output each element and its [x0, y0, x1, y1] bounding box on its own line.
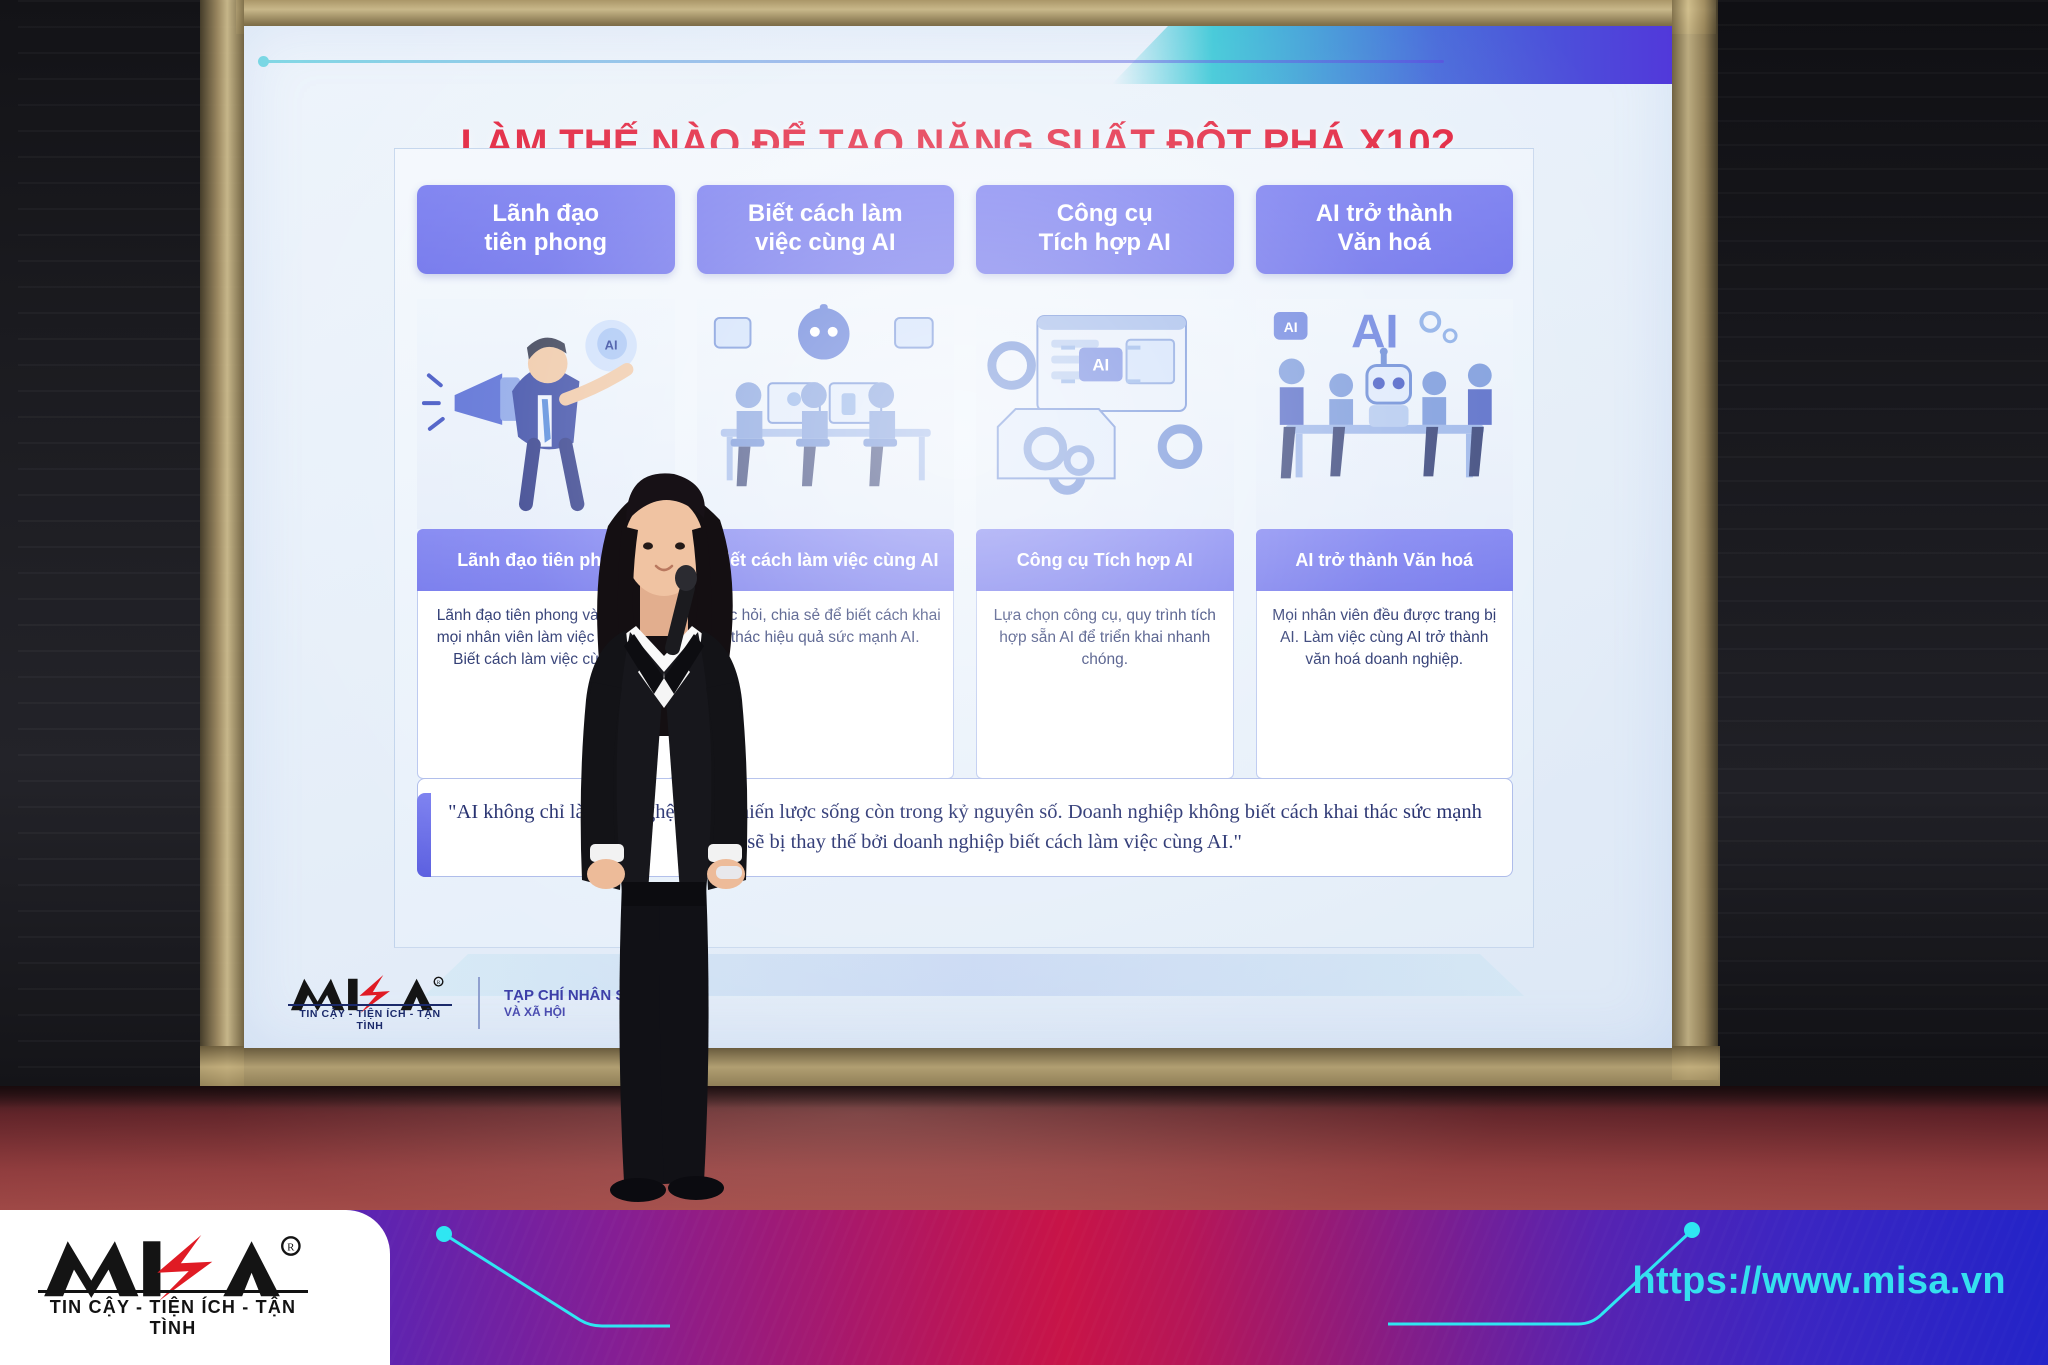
svg-text:AI: AI	[605, 338, 618, 353]
stage-trim-right	[1672, 0, 1718, 1080]
wall-panel-right	[1700, 0, 2048, 1060]
neon-accent-left	[430, 1224, 670, 1344]
column-4-body: Mọi nhân viên đều được trang bị AI. Làm …	[1256, 591, 1514, 779]
projected-slide: LÀM THẾ NÀO ĐỂ TẠO NĂNG SUẤT ĐỘT PHÁ X10…	[244, 26, 1672, 1048]
svg-text:R: R	[437, 980, 441, 986]
column-3: AI	[976, 299, 1234, 779]
brand-misa-logo: R TIN CẬY - TIỆN ÍCH - TẬN TÌNH	[38, 1235, 308, 1339]
brand-misa-tagline: TIN CẬY - TIỆN ÍCH - TẬN TÌNH	[38, 1290, 308, 1339]
gears-chip-toolbox-icon: AI	[976, 299, 1234, 529]
office-culture-robot-icon: AI AI	[1256, 299, 1514, 529]
slide-decor-line	[264, 60, 1444, 63]
svg-text:AI: AI	[1092, 355, 1109, 374]
header-card-2: Biết cách làmviệc cùng AI	[697, 185, 955, 274]
quote-accent-bar	[417, 793, 431, 877]
slide-misa-logo: R TIN CẬY - TIỆN ÍCH - TẬN TÌNH	[284, 974, 454, 1032]
brand-website-url[interactable]: https://www.misa.vn	[1632, 1260, 2006, 1303]
svg-text:AI: AI	[1283, 319, 1297, 335]
slide-decor-corner	[1112, 26, 1672, 84]
column-4: AI AI	[1256, 299, 1514, 779]
header-card-3: Công cụTích hợp AI	[976, 185, 1234, 274]
stage-trim-left	[200, 0, 244, 1100]
header-card-4: AI trở thànhVăn hoá	[1256, 185, 1514, 274]
header-card-1: Lãnh đạotiên phong	[417, 185, 675, 274]
slide-footer: R TIN CẬY - TIỆN ÍCH - TẬN TÌNH TẠP CHÍ …	[284, 966, 1384, 1040]
screenshot-root: LÀM THẾ NÀO ĐỂ TẠO NĂNG SUẤT ĐỘT PHÁ X10…	[0, 0, 2048, 1365]
svg-text:R: R	[287, 1242, 295, 1254]
brand-bar: R TIN CẬY - TIỆN ÍCH - TẬN TÌNH https://…	[0, 1210, 2048, 1365]
column-3-subtitle: Công cụ Tích hợp AI	[976, 529, 1234, 591]
column-4-subtitle: AI trở thành Văn hoá	[1256, 529, 1514, 591]
presenter-person	[530, 430, 800, 1210]
stage-floor-edge	[0, 1086, 2048, 1108]
column-3-body: Lựa chọn công cụ, quy trình tích hợp sẵn…	[976, 591, 1234, 779]
header-card-row: Lãnh đạotiên phong Biết cách làmviệc cùn…	[417, 185, 1513, 274]
slide-misa-tagline: TIN CẬY - TIỆN ÍCH - TẬN TÌNH	[288, 1004, 452, 1032]
slide-footer-divider	[478, 977, 480, 1029]
svg-text:AI: AI	[1351, 306, 1399, 359]
